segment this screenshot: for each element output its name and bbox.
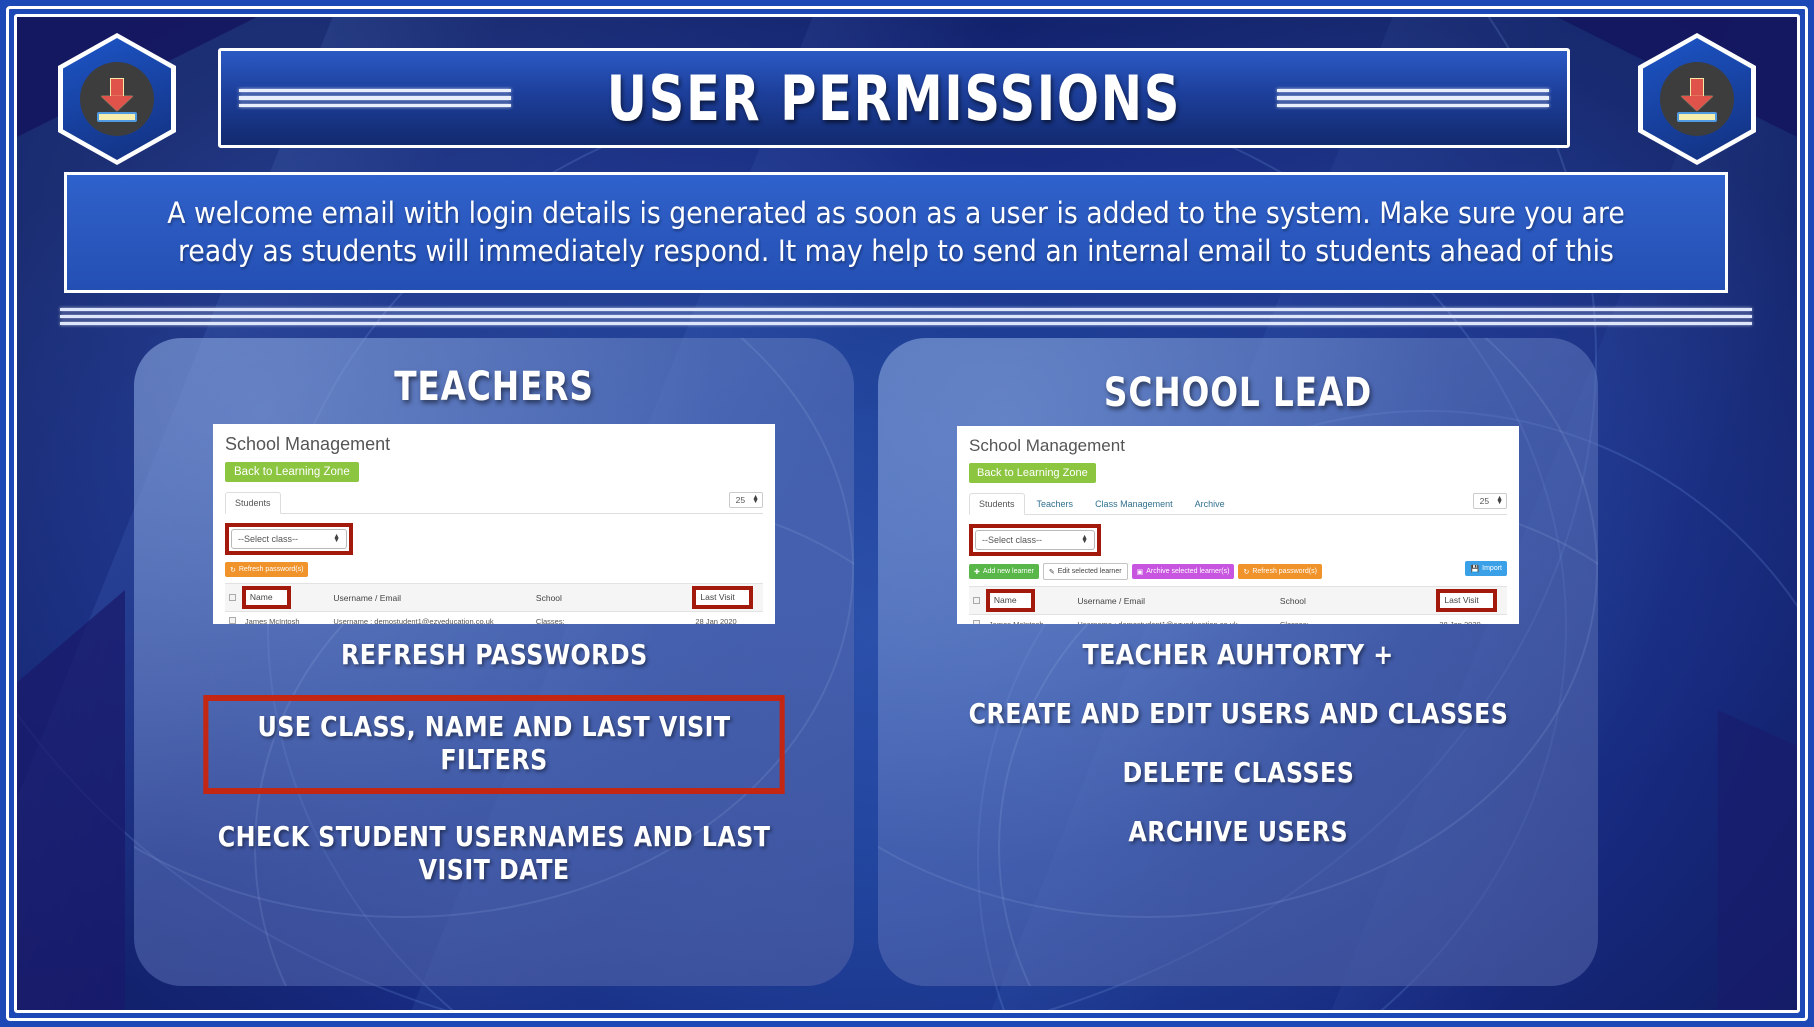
checkbox-icon[interactable] — [229, 617, 236, 624]
refresh-passwords-label: Refresh password(s) — [1252, 568, 1317, 575]
bullet-item-highlighted: USE CLASS, NAME AND LAST VISIT FILTERS — [203, 695, 784, 794]
edit-selected-learner-label: Edit selected learner — [1058, 568, 1122, 575]
select-all-header[interactable] — [969, 587, 985, 615]
highlight-box-name: Name — [986, 589, 1035, 612]
intro-text: A welcome email with login details is ge… — [165, 195, 1628, 270]
back-to-learning-zone-button[interactable]: Back to Learning Zone — [225, 462, 359, 482]
column-header-last-visit[interactable]: Last Visit — [691, 584, 763, 612]
add-new-learner-button[interactable]: ✚ Add new learner — [969, 564, 1039, 579]
import-button[interactable]: 💾 Import — [1465, 561, 1507, 576]
page-size-select[interactable]: 25 ▲▼ — [729, 492, 763, 508]
bullets-teachers: REFRESH PASSWORDS USE CLASS, NAME AND LA… — [134, 638, 854, 912]
highlight-box-last-visit: Last Visit — [1436, 589, 1496, 612]
download-badge-right — [1638, 33, 1756, 165]
bullet-item: TEACHER AUHTORTY + — [1082, 638, 1393, 671]
app-tabs: Students Teachers Class Management Archi… — [969, 492, 1507, 515]
download-icon — [96, 76, 138, 122]
download-badge-left — [58, 33, 176, 165]
cell-name: James McIntosh — [985, 615, 1074, 625]
row-checkbox-cell[interactable] — [969, 615, 985, 625]
refresh-passwords-label: Refresh password(s) — [239, 566, 304, 573]
card-school-lead: SCHOOL LEAD School Management Back to Le… — [878, 338, 1598, 986]
badge-circle — [80, 62, 154, 136]
card-title-school-lead: SCHOOL LEAD — [943, 370, 1533, 416]
cell-name: James McIntosh — [241, 612, 330, 625]
badge-circle — [1660, 62, 1734, 136]
bullet-item: REFRESH PASSWORDS — [341, 638, 648, 671]
poster-root: USER PERMISSIONS A welcome email with lo… — [0, 0, 1814, 1027]
column-header-school[interactable]: School — [532, 584, 691, 612]
page-title: USER PERMISSIONS — [607, 62, 1181, 135]
title-banner: USER PERMISSIONS — [218, 48, 1570, 148]
cell-last-visit: 28 Jan 2020 — [691, 612, 763, 625]
tab-archive[interactable]: Archive — [1185, 493, 1235, 515]
table-header-row: Name Username / Email School Last Visit — [225, 584, 763, 612]
bullet-item: ARCHIVE USERS — [1128, 815, 1348, 848]
checkbox-icon[interactable] — [973, 597, 980, 604]
cell-school: Classes: EzyEducation Demo School: Year … — [1276, 615, 1435, 625]
archive-icon: ▣ — [1137, 568, 1144, 576]
divider — [60, 308, 1752, 329]
app-screenshot-school-lead: School Management Back to Learning Zone … — [957, 426, 1519, 624]
row-checkbox-cell[interactable] — [225, 612, 241, 625]
column-header-username-email[interactable]: Username / Email — [329, 584, 532, 612]
cell-username: Username : demostudent1@ezyeducation.co.… — [1077, 620, 1272, 624]
archive-selected-learners-label: Archive selected learner(s) — [1146, 568, 1229, 575]
app-toolbar: ✚ Add new learner ✎ Edit selected learne… — [969, 563, 1507, 580]
bullet-item: DELETE CLASSES — [1122, 756, 1354, 789]
back-to-learning-zone-button[interactable]: Back to Learning Zone — [969, 463, 1096, 483]
app-heading: School Management — [225, 434, 763, 455]
page-size-select[interactable]: 25 ▲▼ — [1473, 493, 1507, 509]
app-tabs: Students 25 ▲▼ — [225, 491, 763, 514]
column-header-name[interactable]: Name — [985, 587, 1074, 615]
edit-icon: ✎ — [1049, 568, 1055, 576]
cell-last-visit: 28 Jan 2020 — [1435, 615, 1507, 625]
import-label: Import — [1482, 565, 1502, 572]
tab-teachers[interactable]: Teachers — [1027, 493, 1084, 515]
app-screenshot-teachers: School Management Back to Learning Zone … — [213, 424, 775, 624]
class-select-value: --Select class-- — [982, 535, 1042, 545]
cell-username-email: Username : demostudent1@ezyeducation.co.… — [329, 612, 532, 625]
spinner-icon: ▲▼ — [1496, 497, 1503, 505]
bullet-item: CREATE AND EDIT USERS AND CLASSES — [968, 697, 1508, 730]
cell-username-email: Username : demostudent1@ezyeducation.co.… — [1073, 615, 1276, 625]
checkbox-icon[interactable] — [973, 620, 980, 624]
class-filter-wrap: --Select class-- ▲▼ — [969, 524, 1101, 556]
table-row[interactable]: James McIntosh Username : demostudent1@e… — [969, 615, 1507, 625]
app-toolbar: ↻ Refresh password(s) — [225, 562, 763, 577]
spinner-icon: ▲▼ — [1081, 536, 1088, 544]
refresh-passwords-button[interactable]: ↻ Refresh password(s) — [1238, 564, 1321, 579]
download-icon — [1676, 76, 1718, 122]
title-rule-right — [1277, 89, 1549, 107]
page-size-value: 25 — [736, 495, 745, 505]
cell-school: Classes: EzyEducation Demo School: Year … — [532, 612, 691, 625]
refresh-passwords-button[interactable]: ↻ Refresh password(s) — [225, 562, 308, 577]
page-size-value: 25 — [1480, 496, 1489, 506]
add-new-learner-label: Add new learner — [983, 568, 1034, 575]
tab-students[interactable]: Students — [225, 492, 281, 514]
table-header-row: Name Username / Email School Last Visit — [969, 587, 1507, 615]
class-select-value: --Select class-- — [238, 534, 298, 544]
edit-selected-learner-button[interactable]: ✎ Edit selected learner — [1043, 563, 1128, 580]
app-heading: School Management — [969, 436, 1507, 456]
column-header-last-visit[interactable]: Last Visit — [1435, 587, 1507, 615]
classes-label: Classes: — [536, 617, 687, 624]
refresh-icon: ↻ — [230, 566, 236, 574]
title-rule-left — [239, 89, 511, 107]
highlight-box-class-filter: --Select class-- ▲▼ — [225, 523, 353, 555]
cell-username: Username : demostudent1@ezyeducation.co.… — [333, 617, 528, 624]
archive-selected-learners-button[interactable]: ▣ Archive selected learner(s) — [1132, 564, 1235, 579]
checkbox-icon[interactable] — [229, 594, 236, 601]
bullet-item: CHECK STUDENT USERNAMES AND LAST VISIT D… — [218, 820, 771, 886]
class-filter-wrap: --Select class-- ▲▼ — [225, 523, 353, 555]
highlight-box-last-visit: Last Visit — [692, 586, 752, 609]
plus-circle-icon: ✚ — [974, 568, 980, 576]
select-all-header[interactable] — [225, 584, 241, 612]
column-header-username-email[interactable]: Username / Email — [1073, 587, 1276, 615]
import-icon: 💾 — [1470, 565, 1479, 573]
tab-class-management[interactable]: Class Management — [1085, 493, 1183, 515]
class-select[interactable]: --Select class-- ▲▼ — [975, 530, 1095, 550]
tab-students[interactable]: Students — [969, 493, 1025, 515]
column-header-school[interactable]: School — [1276, 587, 1435, 615]
class-select[interactable]: --Select class-- ▲▼ — [231, 529, 347, 549]
table-row[interactable]: James McIntosh Username : demostudent1@e… — [225, 612, 763, 625]
spinner-icon: ▲▼ — [333, 535, 340, 543]
highlight-box-class-filter: --Select class-- ▲▼ — [969, 524, 1101, 556]
refresh-icon: ↻ — [1243, 568, 1249, 576]
students-table: Name Username / Email School Last Visit … — [225, 583, 763, 624]
intro-panel: A welcome email with login details is ge… — [64, 172, 1728, 293]
classes-label: Classes: — [1280, 620, 1431, 624]
highlight-box-name: Name — [242, 586, 291, 609]
students-table: Name Username / Email School Last Visit … — [969, 586, 1507, 624]
column-header-name[interactable]: Name — [241, 584, 330, 612]
spinner-icon: ▲▼ — [752, 496, 759, 504]
bullets-school-lead: TEACHER AUHTORTY + CREATE AND EDIT USERS… — [878, 638, 1598, 874]
card-title-teachers: TEACHERS — [199, 364, 789, 410]
card-teachers: TEACHERS School Management Back to Learn… — [134, 338, 854, 986]
